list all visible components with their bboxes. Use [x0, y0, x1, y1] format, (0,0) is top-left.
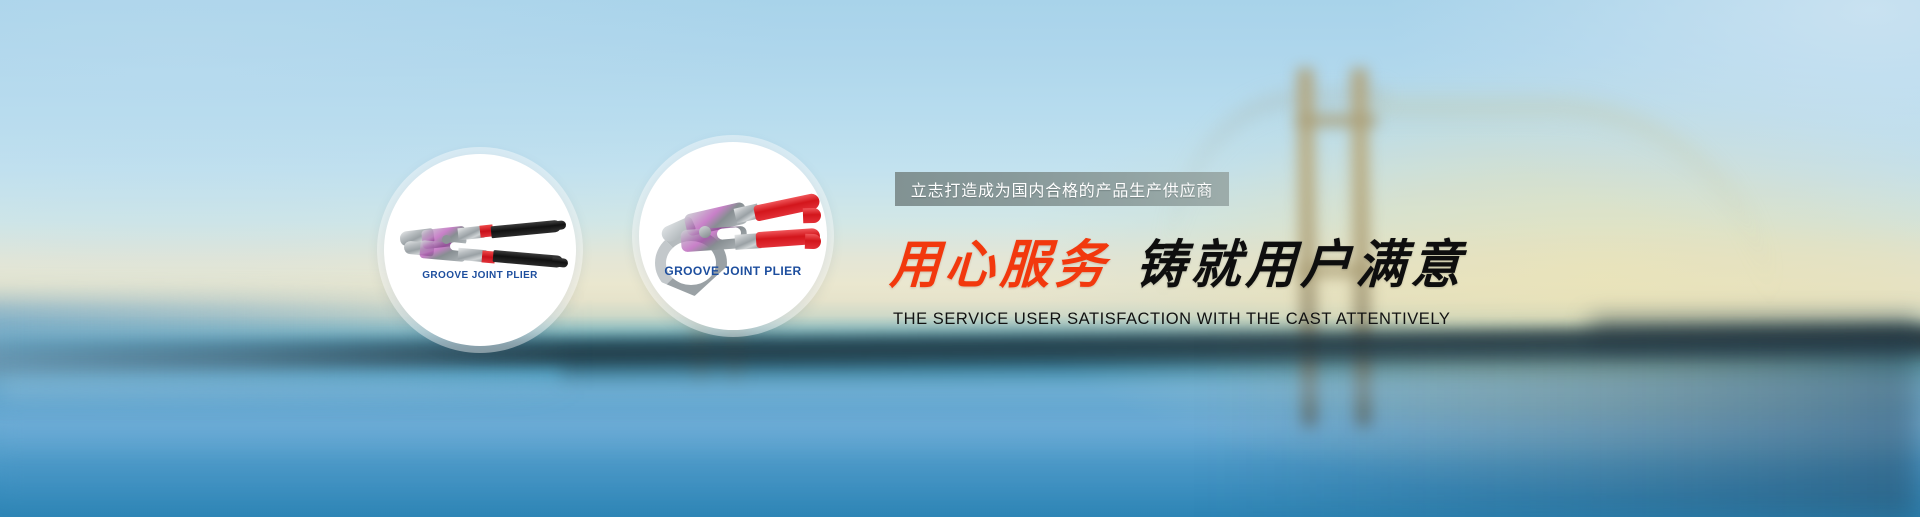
headline-primary: 用心服务: [889, 239, 1112, 291]
tagline-bar: 立志打造成为国内合格的产品生产供应商: [895, 172, 1229, 206]
product-label-1: GROOVE JOINT PLIER: [384, 270, 576, 281]
product-circle-1[interactable]: GROOVE JOINT PLIER: [384, 154, 576, 346]
groove-joint-plier-red-icon: [655, 194, 817, 274]
bridge-tower-crossbeam-upper: [1295, 114, 1377, 127]
headline-secondary: 铸就用户满意: [1135, 239, 1468, 291]
tagline-text: 立志打造成为国内合格的产品生产供应商: [911, 177, 1213, 201]
product-label-2: GROOVE JOINT PLIER: [639, 264, 827, 278]
product-circle-2[interactable]: GROOVE JOINT PLIER: [639, 142, 827, 330]
headline: 用心服务 铸就用户满意: [890, 240, 1466, 290]
groove-joint-plier-black-icon: [400, 222, 564, 274]
hero-banner: GROOVE JOINT PLIER GROOVE JOINT PLIER: [0, 0, 1920, 517]
headline-subline: THE SERVICE USER SATISFACTION WITH THE C…: [893, 310, 1450, 329]
water-dark-right: [1200, 336, 1920, 517]
